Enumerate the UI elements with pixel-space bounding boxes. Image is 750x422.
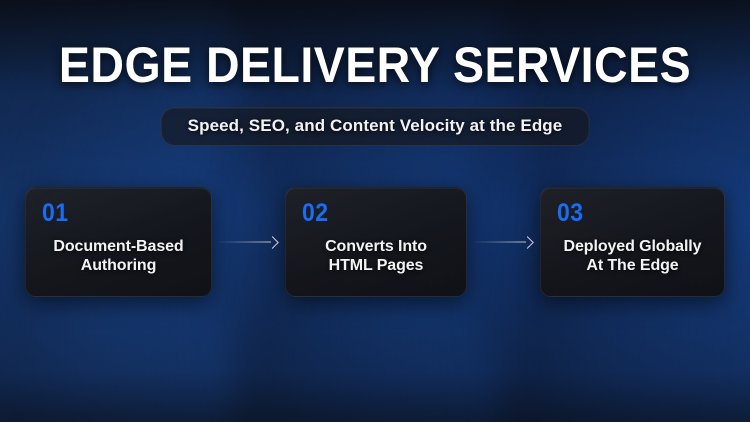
connector-line-2 xyxy=(473,242,526,243)
step-number-1: 01 xyxy=(42,201,188,226)
step-connector-1 xyxy=(214,236,283,248)
step-card-2[interactable]: 02 Converts Into HTML Pages xyxy=(285,187,467,297)
connector-line-1 xyxy=(218,242,271,243)
slide-content: EDGE DELIVERY SERVICES Speed, SEO, and C… xyxy=(0,0,750,422)
subtitle-pill: Speed, SEO, and Content Velocity at the … xyxy=(161,107,590,146)
step-card-1[interactable]: 01 Document-Based Authoring xyxy=(25,187,212,297)
step-label-1: Document-Based Authoring xyxy=(42,237,201,284)
page-title: EDGE DELIVERY SERVICES xyxy=(26,40,724,90)
arrow-right-icon xyxy=(266,236,279,249)
step-label-3: Deployed Globally At The Edge xyxy=(557,237,714,284)
slide-canvas: EDGE DELIVERY SERVICES Speed, SEO, and C… xyxy=(0,0,750,422)
step-label-2: Converts Into HTML Pages xyxy=(302,237,456,284)
step-number-2: 02 xyxy=(302,201,444,226)
step-number-3: 03 xyxy=(557,201,701,226)
step-card-3[interactable]: 03 Deployed Globally At The Edge xyxy=(540,187,725,297)
subtitle-text: Speed, SEO, and Content Velocity at the … xyxy=(188,116,563,135)
arrow-right-icon xyxy=(521,236,534,249)
step-connector-2 xyxy=(469,236,538,248)
steps-row: 01 Document-Based Authoring 02 Converts … xyxy=(25,187,725,297)
